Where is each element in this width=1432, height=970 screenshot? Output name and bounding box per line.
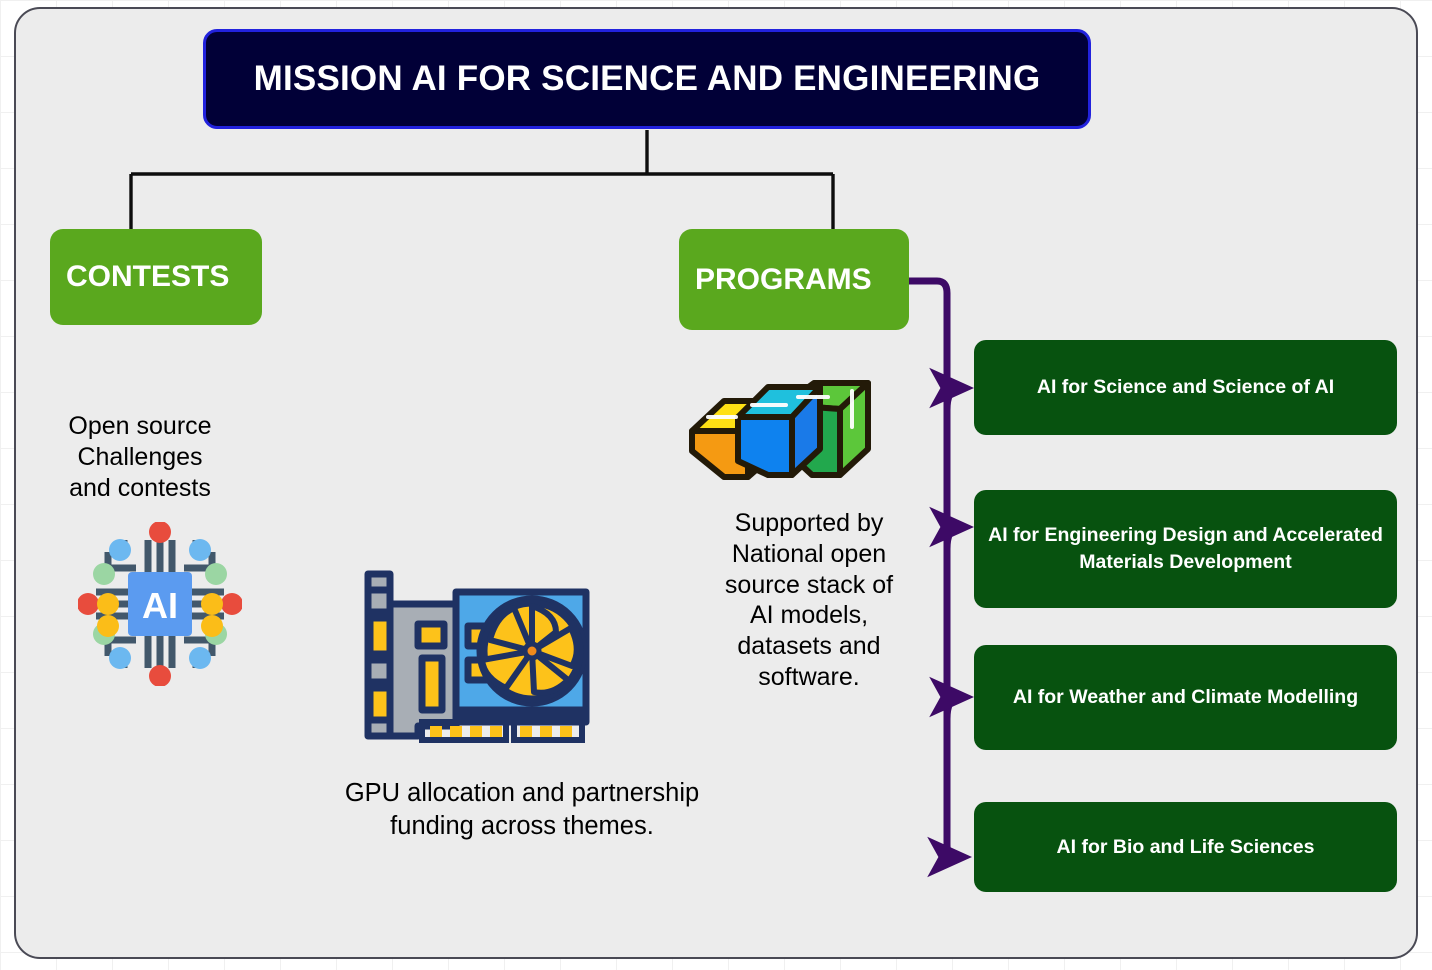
svg-text:AI: AI bbox=[142, 585, 178, 626]
node-program-label: AI for Science and Science of AI bbox=[1037, 374, 1334, 401]
stacked-cubes-icon bbox=[680, 375, 880, 483]
gpu-card-icon bbox=[356, 560, 604, 750]
page-title: MISSION AI FOR SCIENCE AND ENGINEERING bbox=[203, 29, 1091, 129]
contests-caption: Open source Challenges and contests bbox=[38, 411, 242, 503]
node-program-science[interactable]: AI for Science and Science of AI bbox=[974, 340, 1397, 435]
node-programs[interactable]: PROGRAMS bbox=[679, 229, 909, 330]
node-program-weather[interactable]: AI for Weather and Climate Modelling bbox=[974, 645, 1397, 750]
node-contests[interactable]: CONTESTS bbox=[50, 229, 262, 325]
ai-chip-icon: AI bbox=[78, 522, 242, 686]
node-program-label: AI for Engineering Design and Accelerate… bbox=[988, 522, 1383, 576]
node-program-label: AI for Weather and Climate Modelling bbox=[1013, 684, 1358, 711]
gpu-caption: GPU allocation and partnership funding a… bbox=[322, 777, 722, 843]
node-programs-label: PROGRAMS bbox=[695, 263, 872, 297]
programs-caption: Supported by National open source stack … bbox=[709, 508, 909, 693]
node-program-label: AI for Bio and Life Sciences bbox=[1057, 834, 1315, 861]
node-program-bio[interactable]: AI for Bio and Life Sciences bbox=[974, 802, 1397, 892]
diagram-canvas: MISSION AI FOR SCIENCE AND ENGINEERING C… bbox=[0, 0, 1432, 970]
node-contests-label: CONTESTS bbox=[66, 260, 229, 294]
node-program-engineering[interactable]: AI for Engineering Design and Accelerate… bbox=[974, 490, 1397, 608]
